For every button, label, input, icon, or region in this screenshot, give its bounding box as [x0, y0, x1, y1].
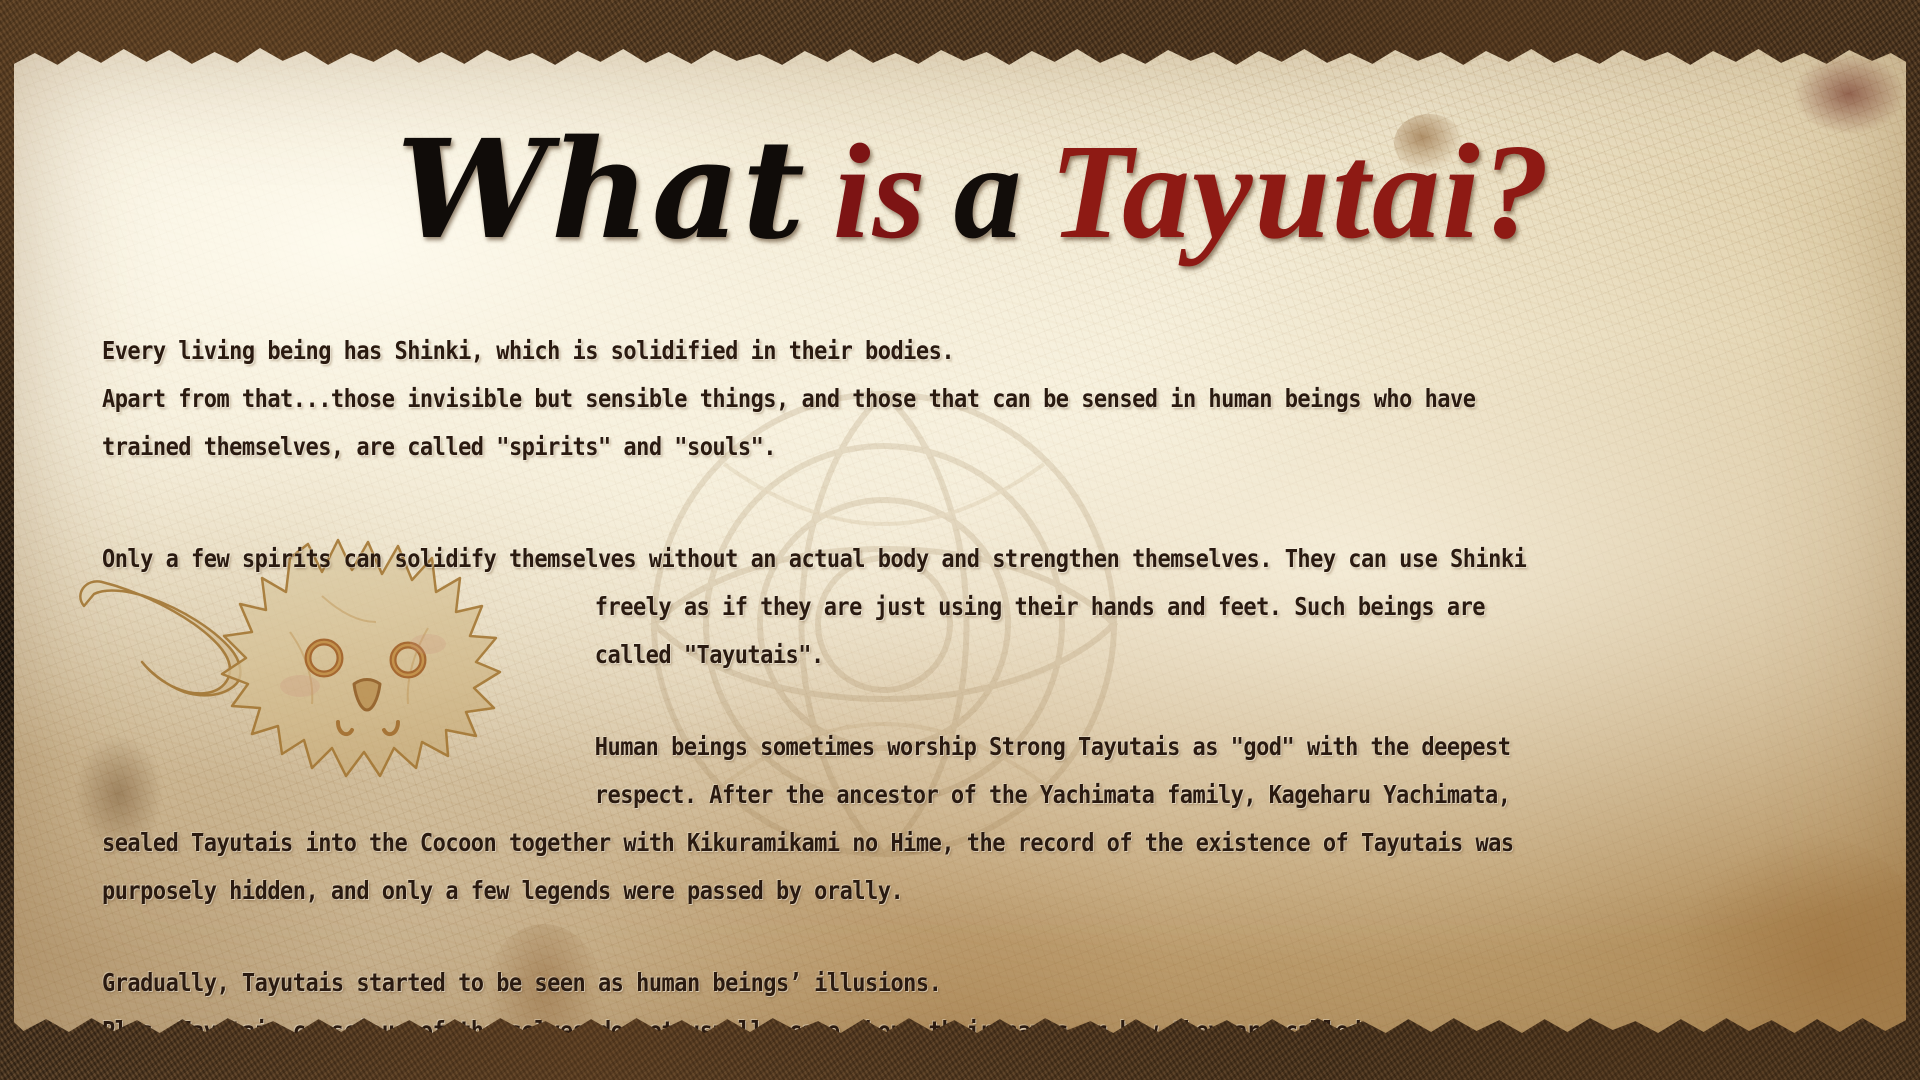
paragraph-1: Every living being has Shinki, which is …: [102, 327, 1651, 471]
paragraph-4: Gradually, Tayutais started to be seen a…: [102, 959, 1651, 1055]
paragraph-2: Only a few spirits can solidify themselv…: [102, 535, 1651, 679]
body-line: freely as if they are just using their h…: [102, 583, 1651, 631]
lore-screen: WhatisaTayutai? Every living being has S…: [0, 0, 1920, 1080]
body-line: trained themselves, are called "spirits"…: [102, 423, 1651, 471]
lore-body: Every living being has Shinki, which is …: [102, 327, 1651, 1055]
body-line: called "Tayutais".: [102, 631, 1651, 679]
title-word-a: a: [954, 117, 1024, 267]
spacer: [102, 501, 1651, 535]
body-line: sealed Tayutais into the Cocoon together…: [102, 819, 1651, 867]
body-line: Human beings sometimes worship Strong Ta…: [102, 723, 1651, 771]
body-line: Only a few spirits can solidify themselv…: [102, 535, 1651, 583]
paragraph-3: Human beings sometimes worship Strong Ta…: [102, 723, 1651, 915]
title-word-tayutai: Tayutai?: [1050, 117, 1552, 267]
body-line: Plus, Tayutais conscious of themselves d…: [102, 1007, 1651, 1055]
title-word-what: What: [396, 110, 807, 270]
spacer: [102, 915, 1651, 959]
paper-stain: [1674, 834, 1920, 1080]
parchment-sheet: WhatisaTayutai? Every living being has S…: [14, 44, 1906, 1038]
body-line: respect. After the ancestor of the Yachi…: [102, 771, 1651, 819]
page-title: WhatisaTayutai?: [14, 122, 1920, 260]
body-line: Gradually, Tayutais started to be seen a…: [102, 959, 1651, 1007]
body-line: Apart from that...those invisible but se…: [102, 375, 1651, 423]
body-line: purposely hidden, and only a few legends…: [102, 867, 1651, 915]
title-word-is: is: [833, 117, 928, 267]
spacer: [102, 679, 1651, 723]
body-line: Every living being has Shinki, which is …: [102, 327, 1651, 375]
